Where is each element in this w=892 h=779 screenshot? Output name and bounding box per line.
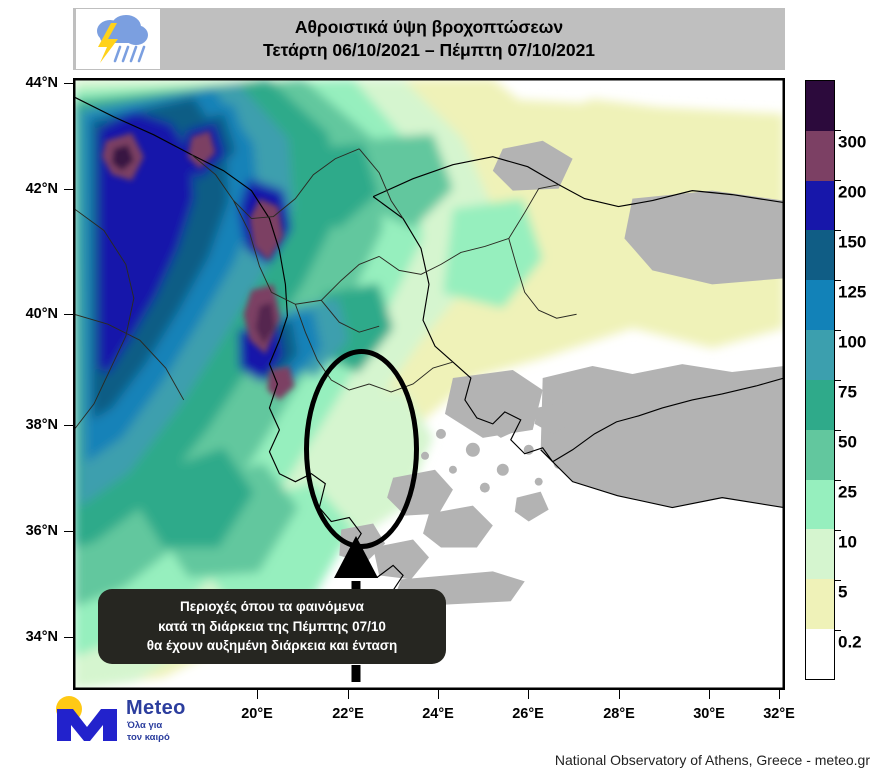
title-line-2: Τετάρτη 06/10/2021 – Πέμπτη 07/10/2021 [263, 39, 595, 62]
ytick-mark [64, 531, 73, 532]
page-title: Αθροιστικά ύψη βροχοπτώσεων Τετάρτη 06/1… [73, 8, 785, 70]
xtick-label: 24°E [422, 706, 454, 722]
colorbar-band [806, 280, 834, 330]
colorbar-tick-mark [835, 630, 841, 631]
colorbar-tick-label: 125 [838, 283, 866, 303]
attribution-text: National Observatory of Athens, Greece -… [555, 752, 870, 768]
colorbar-tick-label: 300 [838, 133, 866, 153]
colorbar-tick-mark [835, 480, 841, 481]
colorbar-band [806, 480, 834, 530]
ytick-label: 36°N [26, 523, 58, 539]
ytick-mark [64, 425, 73, 426]
ytick-label: 42°N [26, 181, 58, 197]
ytick-label: 44°N [26, 75, 58, 91]
callout-line-1: Περιοχές όπου τα φαινόμενα [180, 597, 364, 617]
weather-map-page: Αθροιστικά ύψη βροχοπτώσεων Τετάρτη 06/1… [0, 0, 892, 779]
colorbar-tick-mark [835, 430, 841, 431]
colorbar-band [806, 81, 834, 131]
ytick-mark [64, 637, 73, 638]
title-line-1: Αθροιστικά ύψη βροχοπτώσεων [295, 16, 563, 39]
meteo-tagline-line-1: Όλα για [127, 720, 170, 732]
colorbar-tick-mark [835, 580, 841, 581]
ytick-label: 34°N [26, 629, 58, 645]
xtick-label: 22°E [332, 706, 364, 722]
colorbar-tick-mark [835, 130, 841, 131]
xtick-mark [779, 690, 780, 699]
colorbar-band [806, 181, 834, 231]
colorbar-band [806, 430, 834, 480]
xtick-mark [257, 690, 258, 699]
meteo-wordmark: Meteo [126, 697, 186, 720]
colorbar [805, 80, 835, 680]
ytick-mark [64, 314, 73, 315]
callout-line-2: κατά τη διάρκεια της Πέμπτης 07/10 [158, 617, 386, 637]
colorbar-tick-mark [835, 330, 841, 331]
meteo-tagline-line-2: τον καιρό [127, 732, 170, 744]
thunderstorm-icon [84, 13, 152, 65]
colorbar-tick-label: 75 [838, 383, 857, 403]
xtick-mark [438, 690, 439, 699]
colorbar-tick-mark [835, 180, 841, 181]
colorbar-tick-label: 0.2 [838, 633, 862, 653]
colorbar-tick-label: 200 [838, 183, 866, 203]
xtick-label: 30°E [693, 706, 725, 722]
colorbar-tick-label: 10 [838, 533, 857, 553]
colorbar-band [806, 380, 834, 430]
ytick-mark [64, 83, 73, 84]
callout-box: Περιοχές όπου τα φαινόμενα κατά τη διάρκ… [98, 589, 446, 664]
colorbar-band [806, 529, 834, 579]
colorbar-band [806, 230, 834, 280]
xtick-mark [709, 690, 710, 699]
xtick-mark [348, 690, 349, 699]
colorbar-tick-label: 150 [838, 233, 866, 253]
colorbar-tick-mark [835, 530, 841, 531]
colorbar-band [806, 330, 834, 380]
colorbar-tick-mark [835, 280, 841, 281]
ytick-label: 40°N [26, 306, 58, 322]
xtick-label: 26°E [512, 706, 544, 722]
ytick-label: 38°N [26, 417, 58, 433]
xtick-mark [619, 690, 620, 699]
colorbar-band [806, 629, 834, 679]
latitude-axis: 44°N 42°N 40°N 38°N 36°N 34°N [0, 0, 58, 779]
colorbar-tick-mark [835, 380, 841, 381]
xtick-label: 20°E [241, 706, 273, 722]
xtick-label: 28°E [603, 706, 635, 722]
colorbar-tick-label: 25 [838, 483, 857, 503]
xtick-label: 32°E [763, 706, 795, 722]
colorbar-tick-label: 5 [838, 583, 847, 603]
xtick-mark [528, 690, 529, 699]
colorbar-band [806, 131, 834, 181]
colorbar-tick-label: 50 [838, 433, 857, 453]
callout-line-3: θα έχουν αυξημένη διάρκεια και ένταση [147, 636, 398, 656]
colorbar-tick-label: 100 [838, 333, 866, 353]
colorbar-band [806, 579, 834, 629]
ytick-mark [64, 189, 73, 190]
meteo-tagline: Όλα για τον καιρό [127, 720, 170, 743]
colorbar-tick-mark [835, 230, 841, 231]
